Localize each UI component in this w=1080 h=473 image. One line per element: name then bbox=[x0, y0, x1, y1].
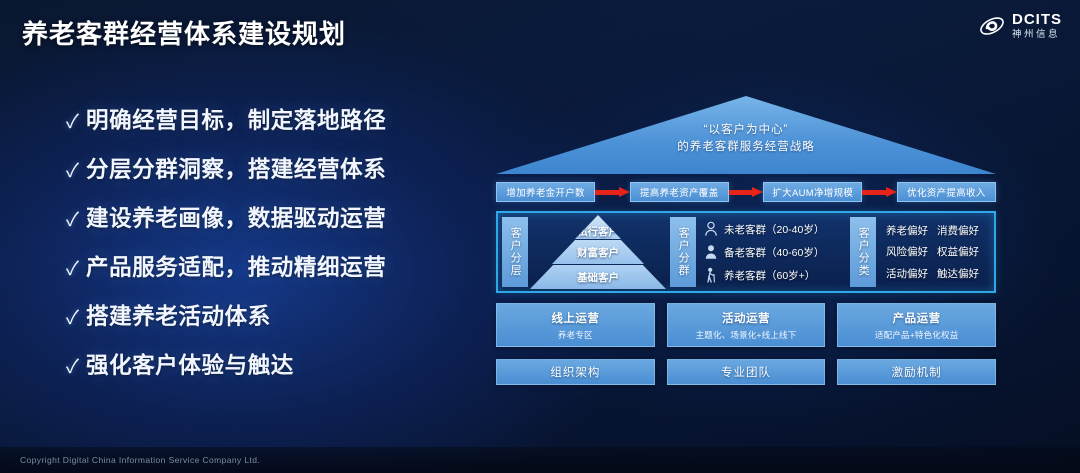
list-item: 养老客群（60岁+） bbox=[704, 267, 824, 283]
strategy-roof: “以客户为中心” 的养老客群服务经营战略 bbox=[496, 96, 996, 174]
check-icon: ✓ bbox=[66, 309, 86, 328]
roof-caption-line1: “以客户为中心” bbox=[496, 122, 996, 139]
brand-name-en: DCITS bbox=[1012, 12, 1062, 27]
preference-tag: 权益偏好 bbox=[937, 241, 988, 262]
segment-tier-body: 私行客户 财富客户 基础客户 bbox=[528, 213, 666, 291]
list-item: ✓ 强化客户体验与触达 bbox=[66, 348, 466, 380]
foundation-card-org[interactable]: 组织架构 bbox=[496, 359, 655, 385]
operation-card-subtitle: 适配产品+特色化权益 bbox=[875, 329, 958, 341]
preference-tag-grid: 养老偏好 消费偏好 风险偏好 权益偏好 活动偏好 触达偏好 bbox=[876, 213, 994, 291]
operation-card-online[interactable]: 线上运营 养老专区 bbox=[496, 303, 655, 347]
check-icon: ✓ bbox=[66, 162, 86, 181]
strategy-step-3[interactable]: 扩大AUM净增规模 bbox=[763, 182, 862, 202]
segment-group-block: 客户分群 未老客群（20-40岁） bbox=[666, 213, 846, 291]
operation-card-subtitle: 主题化、场景化+线上线下 bbox=[696, 329, 797, 341]
key-points-list: ✓ 明确经营目标，制定落地路径 ✓ 分层分群洞察，搭建经营体系 ✓ 建设养老画像… bbox=[66, 103, 466, 397]
person-elder-cane-icon bbox=[704, 267, 718, 283]
foundation-card-incentive[interactable]: 激励机制 bbox=[837, 359, 996, 385]
person-young-icon bbox=[704, 221, 718, 237]
operation-card-title: 活动运营 bbox=[722, 310, 770, 326]
check-icon: ✓ bbox=[66, 211, 86, 230]
roof-caption: “以客户为中心” 的养老客群服务经营战略 bbox=[496, 122, 996, 155]
slide-canvas: 养老客群经营体系建设规划 DCITS 神州信息 ✓ 明确经营目标，制定落地路径 … bbox=[0, 0, 1080, 473]
preference-tag: 养老偏好 bbox=[886, 220, 937, 241]
segment-group-label: 客户分群 bbox=[670, 217, 696, 287]
operation-card-subtitle: 养老专区 bbox=[558, 329, 593, 341]
preference-tag: 消费偏好 bbox=[937, 220, 988, 241]
preference-tag: 活动偏好 bbox=[886, 263, 937, 284]
operation-card-activity[interactable]: 活动运营 主题化、场景化+线上线下 bbox=[667, 303, 826, 347]
brand-text: DCITS 神州信息 bbox=[1012, 12, 1062, 40]
pyramid-tier-bottom: 基础客户 bbox=[530, 265, 666, 289]
strategy-step-2[interactable]: 提高养老资产覆盖 bbox=[630, 182, 729, 202]
list-item: ✓ 建设养老画像，数据驱动运营 bbox=[66, 201, 466, 233]
list-item-label: 搭建养老活动体系 bbox=[86, 299, 271, 331]
list-item: 备老客群（40-60岁） bbox=[704, 244, 824, 260]
brand-name-cn: 神州信息 bbox=[1012, 30, 1062, 40]
customer-tier-pyramid: 私行客户 财富客户 基础客户 bbox=[530, 215, 666, 289]
customer-group-label: 备老客群（40-60岁） bbox=[724, 245, 824, 260]
dcits-swirl-logo-icon bbox=[979, 13, 1005, 39]
list-item-label: 建设养老画像，数据驱动运营 bbox=[86, 201, 386, 233]
list-item: ✓ 明确经营目标，制定落地路径 bbox=[66, 103, 466, 135]
segment-class-block: 客户分类 养老偏好 消费偏好 风险偏好 权益偏好 活动偏好 触达偏好 bbox=[846, 213, 994, 291]
pyramid-tier-middle: 财富客户 bbox=[552, 240, 644, 264]
foundation-row: 组织架构 专业团队 激励机制 bbox=[496, 359, 996, 385]
list-item-label: 分层分群洞察，搭建经营体系 bbox=[86, 152, 386, 184]
operation-card-title: 产品运营 bbox=[893, 310, 941, 326]
strategy-step-4[interactable]: 优化资产提高收入 bbox=[897, 182, 996, 202]
strategy-diagram: “以客户为中心” 的养老客群服务经营战略 增加养老金开户数 提高养老资产覆盖 扩… bbox=[492, 96, 1004, 426]
customer-segmentation-panel: 客户分层 私行客户 财富客户 基础客户 客户分群 bbox=[496, 211, 996, 293]
operation-card-title: 线上运营 bbox=[551, 310, 599, 326]
arrow-right-icon bbox=[862, 187, 896, 197]
customer-group-label: 未老客群（20-40岁） bbox=[724, 222, 824, 237]
segment-tier-block: 客户分层 私行客户 财富客户 基础客户 bbox=[498, 213, 666, 291]
strategy-step-1[interactable]: 增加养老金开户数 bbox=[496, 182, 595, 202]
list-item-label: 明确经营目标，制定落地路径 bbox=[86, 103, 386, 135]
copyright-text: Copyright Digital China Information Serv… bbox=[20, 455, 260, 465]
customer-group-label: 养老客群（60岁+） bbox=[724, 268, 815, 283]
list-item: ✓ 分层分群洞察，搭建经营体系 bbox=[66, 152, 466, 184]
segment-group-body: 未老客群（20-40岁） 备老客群（40-60岁） bbox=[696, 213, 846, 291]
person-adult-icon bbox=[704, 244, 718, 260]
segment-tier-label: 客户分层 bbox=[502, 217, 528, 287]
segment-class-body: 养老偏好 消费偏好 风险偏好 权益偏好 活动偏好 触达偏好 bbox=[876, 213, 994, 291]
roof-caption-line2: 的养老客群服务经营战略 bbox=[496, 139, 996, 156]
brand-logo: DCITS 神州信息 bbox=[979, 12, 1062, 40]
check-icon: ✓ bbox=[66, 260, 86, 279]
operation-card-product[interactable]: 产品运营 适配产品+特色化权益 bbox=[837, 303, 996, 347]
pyramid-tier-top-label: 私行客户 bbox=[577, 224, 619, 239]
customer-group-list: 未老客群（20-40岁） 备老客群（40-60岁） bbox=[696, 221, 824, 283]
slide-header: 养老客群经营体系建设规划 DCITS 神州信息 bbox=[0, 0, 1080, 58]
segment-class-label: 客户分类 bbox=[850, 217, 876, 287]
arrow-right-icon bbox=[595, 187, 629, 197]
list-item-label: 强化客户体验与触达 bbox=[86, 348, 294, 380]
check-icon: ✓ bbox=[66, 358, 86, 377]
page-title: 养老客群经营体系建设规划 bbox=[22, 14, 346, 51]
list-item: 未老客群（20-40岁） bbox=[704, 221, 824, 237]
preference-tag: 触达偏好 bbox=[937, 263, 988, 284]
slide-footer: Copyright Digital China Information Serv… bbox=[0, 447, 1080, 473]
strategy-step-row: 增加养老金开户数 提高养老资产覆盖 扩大AUM净增规模 优化资产提高收入 bbox=[496, 182, 996, 202]
check-icon: ✓ bbox=[66, 113, 86, 132]
operations-row: 线上运营 养老专区 活动运营 主题化、场景化+线上线下 产品运营 适配产品+特色… bbox=[496, 303, 996, 347]
arrow-right-icon bbox=[729, 187, 763, 197]
list-item: ✓ 搭建养老活动体系 bbox=[66, 299, 466, 331]
preference-tag: 风险偏好 bbox=[886, 241, 937, 262]
list-item-label: 产品服务适配，推动精细运营 bbox=[86, 250, 386, 282]
foundation-card-team[interactable]: 专业团队 bbox=[667, 359, 826, 385]
pyramid-tier-top: 私行客户 bbox=[575, 215, 621, 239]
list-item: ✓ 产品服务适配，推动精细运营 bbox=[66, 250, 466, 282]
